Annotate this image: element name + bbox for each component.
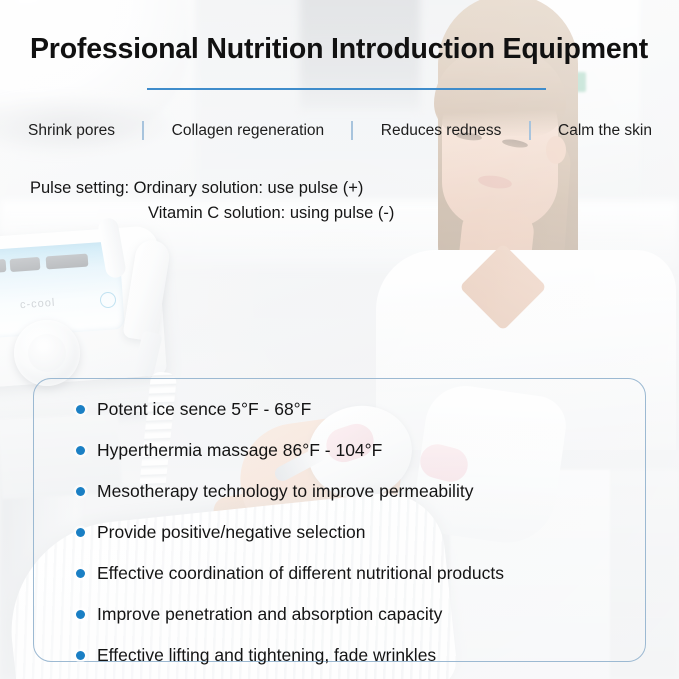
benefit-tag-shrink-pores: Shrink pores xyxy=(28,122,115,140)
tag-separator-2 xyxy=(351,121,353,140)
poster-content: Professional Nutrition Introduction Equi… xyxy=(0,0,679,679)
benefit-tag-row: Shrink pores Collagen regeneration Reduc… xyxy=(28,121,652,140)
benefit-tag-reduces-redness: Reduces redness xyxy=(381,122,502,140)
page-title: Professional Nutrition Introduction Equi… xyxy=(30,33,648,66)
list-item: Hyperthermia massage 86°F - 104°F xyxy=(76,430,631,471)
benefit-tag-collagen-regeneration: Collagen regeneration xyxy=(172,122,325,140)
title-underline xyxy=(147,88,546,90)
bullet-dot-icon xyxy=(76,569,85,578)
feature-text-3: Mesotherapy technology to improve permea… xyxy=(97,481,473,502)
list-item: Potent ice sence 5°F - 68°F xyxy=(76,389,631,430)
feature-list-box: Potent ice sence 5°F - 68°F Hyperthermia… xyxy=(33,378,646,662)
bullet-dot-icon xyxy=(76,405,85,414)
bullet-dot-icon xyxy=(76,651,85,660)
feature-text-5: Effective coordination of different nutr… xyxy=(97,563,504,584)
feature-text-4: Provide positive/negative selection xyxy=(97,522,366,543)
tag-separator-1 xyxy=(142,121,144,140)
tag-separator-3 xyxy=(529,121,531,140)
bullet-dot-icon xyxy=(76,528,85,537)
benefit-tag-calm-the-skin: Calm the skin xyxy=(558,122,652,140)
pulse-setting-note: Pulse setting: Ordinary solution: use pu… xyxy=(30,176,394,226)
list-item: Improve penetration and absorption capac… xyxy=(76,594,631,635)
feature-text-1: Potent ice sence 5°F - 68°F xyxy=(97,399,311,420)
product-feature-poster: c-cool Professional Nutrition Introducti… xyxy=(0,0,679,679)
feature-text-2: Hyperthermia massage 86°F - 104°F xyxy=(97,440,382,461)
bullet-dot-icon xyxy=(76,446,85,455)
list-item: Effective coordination of different nutr… xyxy=(76,553,631,594)
list-item: Mesotherapy technology to improve permea… xyxy=(76,471,631,512)
pulse-setting-line-2: Vitamin C solution: using pulse (-) xyxy=(30,201,394,226)
bullet-dot-icon xyxy=(76,610,85,619)
list-item: Effective lifting and tightening, fade w… xyxy=(76,635,631,676)
pulse-setting-line-1: Pulse setting: Ordinary solution: use pu… xyxy=(30,179,363,197)
feature-text-6: Improve penetration and absorption capac… xyxy=(97,604,442,625)
feature-text-7: Effective lifting and tightening, fade w… xyxy=(97,645,436,666)
list-item: Provide positive/negative selection xyxy=(76,512,631,553)
feature-list: Potent ice sence 5°F - 68°F Hyperthermia… xyxy=(76,389,631,676)
bullet-dot-icon xyxy=(76,487,85,496)
